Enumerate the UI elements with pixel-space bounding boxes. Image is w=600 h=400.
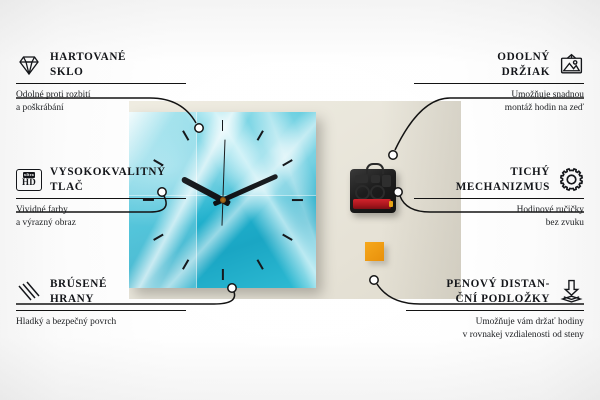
connector-dot-6: [370, 276, 378, 284]
feature-title: ODOLNÝ DRŽIAK: [414, 50, 550, 79]
feature-description: Umožňuje snadnou montáž hodin na zeď: [414, 89, 584, 114]
feature-description: Vividné farby a výrazný obraz: [16, 204, 186, 229]
hd-label: HD: [22, 178, 36, 187]
feature-description: Odolné proti rozbití a poškrábání: [16, 89, 186, 114]
feature-title: VYSOKOKVALITNÝ TLAČ: [50, 165, 186, 194]
divider: [414, 83, 584, 84]
feature-durable-hanger: ODOLNÝ DRŽIAK Umožňuje snadnou montáž ho…: [414, 50, 584, 114]
diamond-icon: [16, 52, 42, 78]
feature-description: Umožňuje vám držať hodiny v rovnakej vzd…: [406, 316, 584, 341]
connector-dot-5: [394, 188, 402, 196]
divider: [414, 198, 584, 199]
beveled-edges-icon: [16, 279, 42, 305]
feature-description: Hladký a bezpečný povrch: [16, 316, 186, 328]
down-arrow-stack-icon: [558, 279, 584, 305]
feature-tempered-glass: HARTOVANÉ SKLO Odolné proti rozbití a po…: [16, 50, 186, 114]
infographic-canvas: HARTOVANÉ SKLO Odolné proti rozbití a po…: [0, 0, 600, 400]
gear-icon: [558, 167, 584, 193]
feature-title: HARTOVANÉ SKLO: [50, 50, 186, 79]
feature-description: Hodinové ručičky bez zvuku: [414, 204, 584, 229]
divider: [406, 310, 584, 311]
feature-title: TICHÝ MECHANIZMUS: [414, 165, 550, 194]
feature-title: BRÚSENÉ HRANY: [50, 277, 186, 306]
feature-silent-mechanism: TICHÝ MECHANIZMUS Hodinové ručičky bez z…: [414, 165, 584, 229]
feature-beveled-edges: BRÚSENÉ HRANY Hladký a bezpečný povrch: [16, 277, 186, 329]
divider: [16, 310, 186, 311]
connector-dot-3: [228, 284, 236, 292]
divider: [16, 198, 186, 199]
connector-dot-4: [389, 151, 397, 159]
divider: [16, 83, 186, 84]
ultra-hd-icon: ultra HD: [16, 167, 42, 193]
feature-high-quality-print: ultra HD VYSOKOKVALITNÝ TLAČ Vividné far…: [16, 165, 186, 229]
feature-title: PENOVÝ DISTAN- ČNÍ PODLOŽKY: [406, 277, 550, 306]
connector-dot-1: [195, 124, 203, 132]
feature-foam-spacers: PENOVÝ DISTAN- ČNÍ PODLOŽKY Umožňuje vám…: [406, 277, 584, 341]
picture-frame-icon: [558, 52, 584, 78]
